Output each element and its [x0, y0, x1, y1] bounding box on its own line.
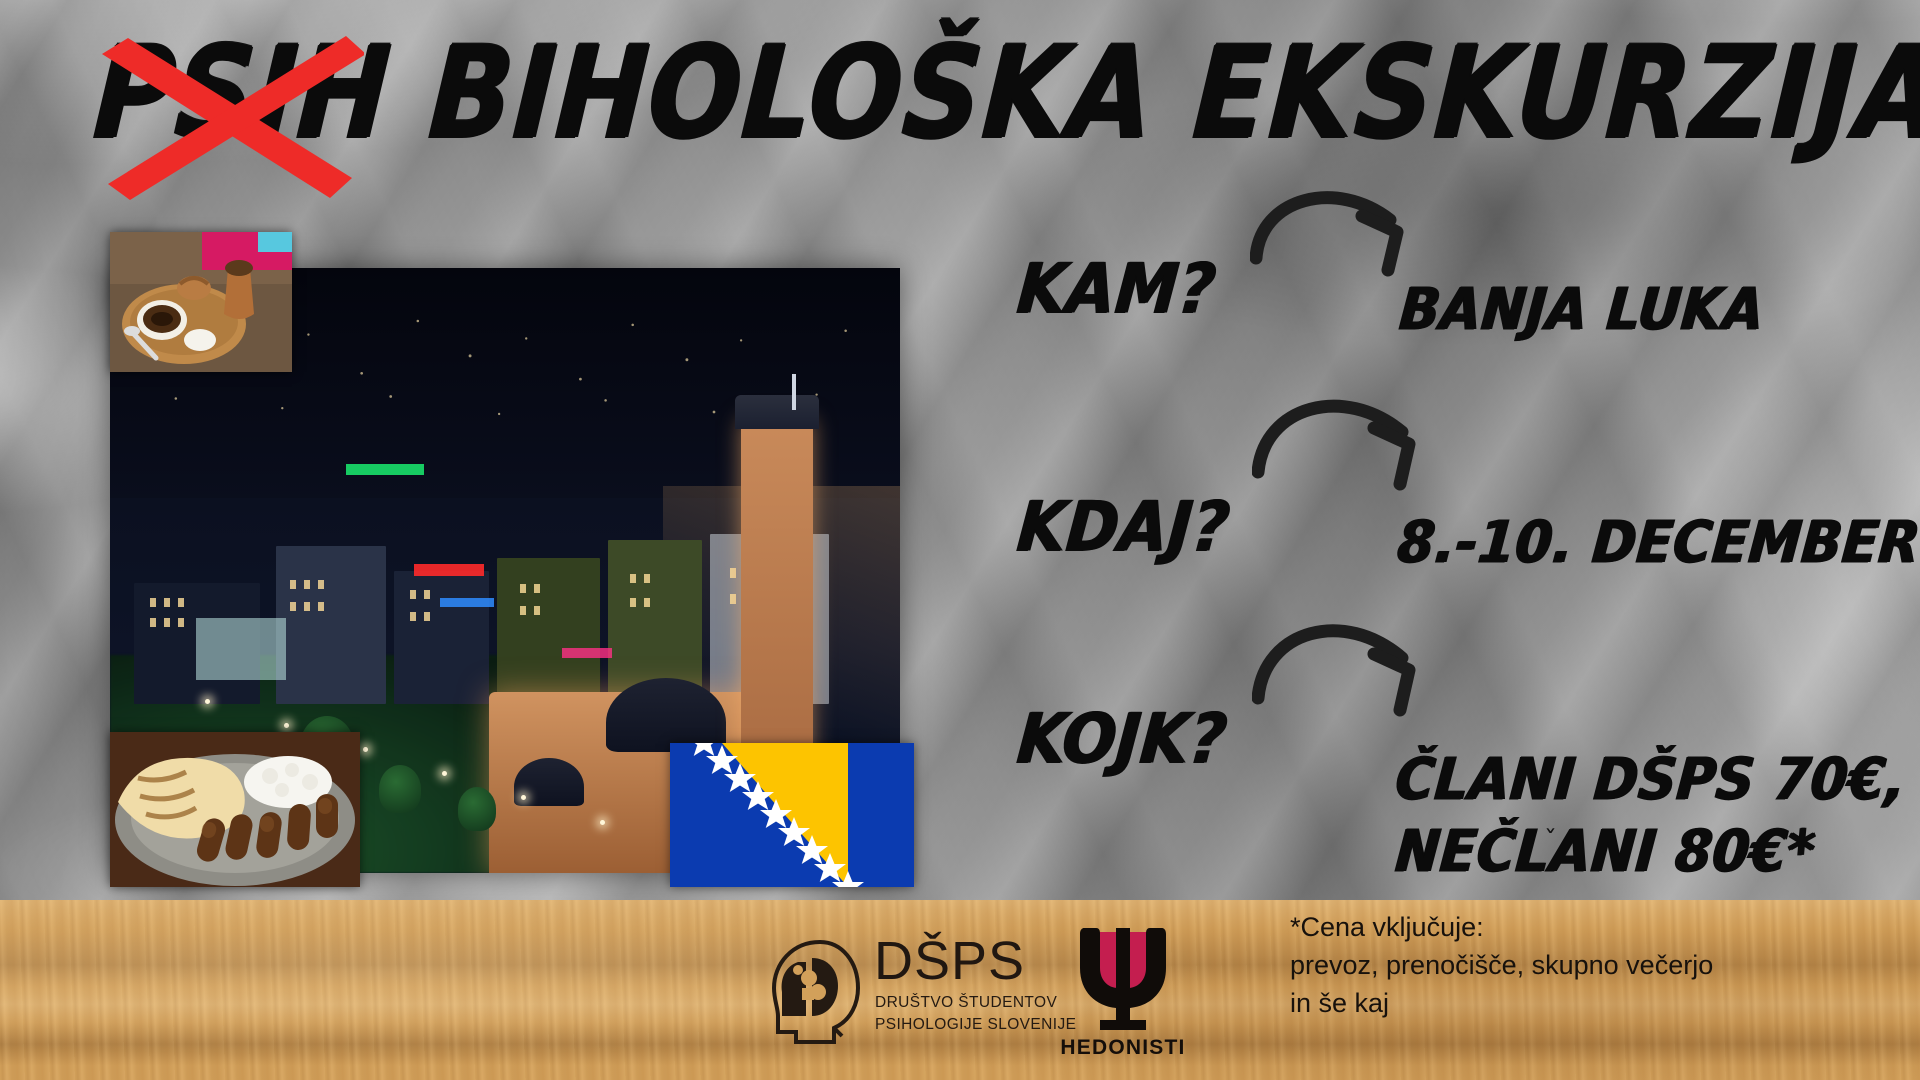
head-puzzle-icon — [762, 936, 866, 1048]
curved-arrow-3-icon — [1252, 602, 1442, 724]
dsps-subtitle-line2: PSIHOLOGIJE SLOVENIJE — [875, 1016, 1076, 1034]
photo-collage — [110, 268, 900, 873]
price-footnote: *Cena vključuje: prevoz, prenočišče, sku… — [1290, 908, 1870, 1022]
dsps-acronym: DŠPS — [874, 932, 1025, 990]
poster-title: PSIH BIHOLOŠKA EKSKURZIJA — [0, 14, 1920, 164]
cevapi-photo — [110, 732, 360, 887]
answer-destination: BANJA LUKA — [1397, 276, 1767, 343]
hedonisti-label: HEDONISTI — [1048, 1036, 1198, 1060]
poster-canvas: PSIH BIHOLOŠKA EKSKURZIJA — [0, 0, 1920, 1080]
question-kam: KAM? — [1014, 248, 1219, 330]
stray-caron-mark: ˇ — [1544, 826, 1557, 856]
answer-price-nonmembers: NEČLANI 80€* — [1393, 818, 1818, 885]
hedonisti-logo: HEDONISTI — [1048, 922, 1198, 1062]
bosnia-herzegovina-flag — [670, 743, 914, 887]
dsps-logo: DŠPS DRUŠTVO ŠTUDENTOV PSIHOLOGIJE SLOVE… — [762, 932, 1022, 1054]
footnote-line-1: *Cena vključuje: — [1290, 908, 1870, 946]
question-kojk: KOJK? — [1014, 698, 1230, 780]
bosnian-coffee-photo — [110, 232, 292, 372]
red-strikethrough-x-icon — [84, 32, 364, 202]
psi-wine-glass-icon — [1066, 922, 1180, 1034]
curved-arrow-1-icon — [1250, 172, 1430, 282]
question-kdaj: KDAJ? — [1014, 486, 1233, 568]
poster-title-text: PSIH BIHOLOŠKA EKSKURZIJA — [90, 20, 1920, 168]
footnote-line-3: in še kaj — [1290, 984, 1870, 1022]
curved-arrow-2-icon — [1252, 378, 1442, 498]
answer-dates: 8.-10. DECEMBER — [1395, 509, 1920, 576]
footnote-line-2: prevoz, prenočišče, skupno večerjo — [1290, 946, 1870, 984]
dsps-subtitle-line1: DRUŠTVO ŠTUDENTOV — [875, 994, 1057, 1012]
answer-price-members: ČLANI DŠPS 70€, — [1393, 746, 1909, 813]
